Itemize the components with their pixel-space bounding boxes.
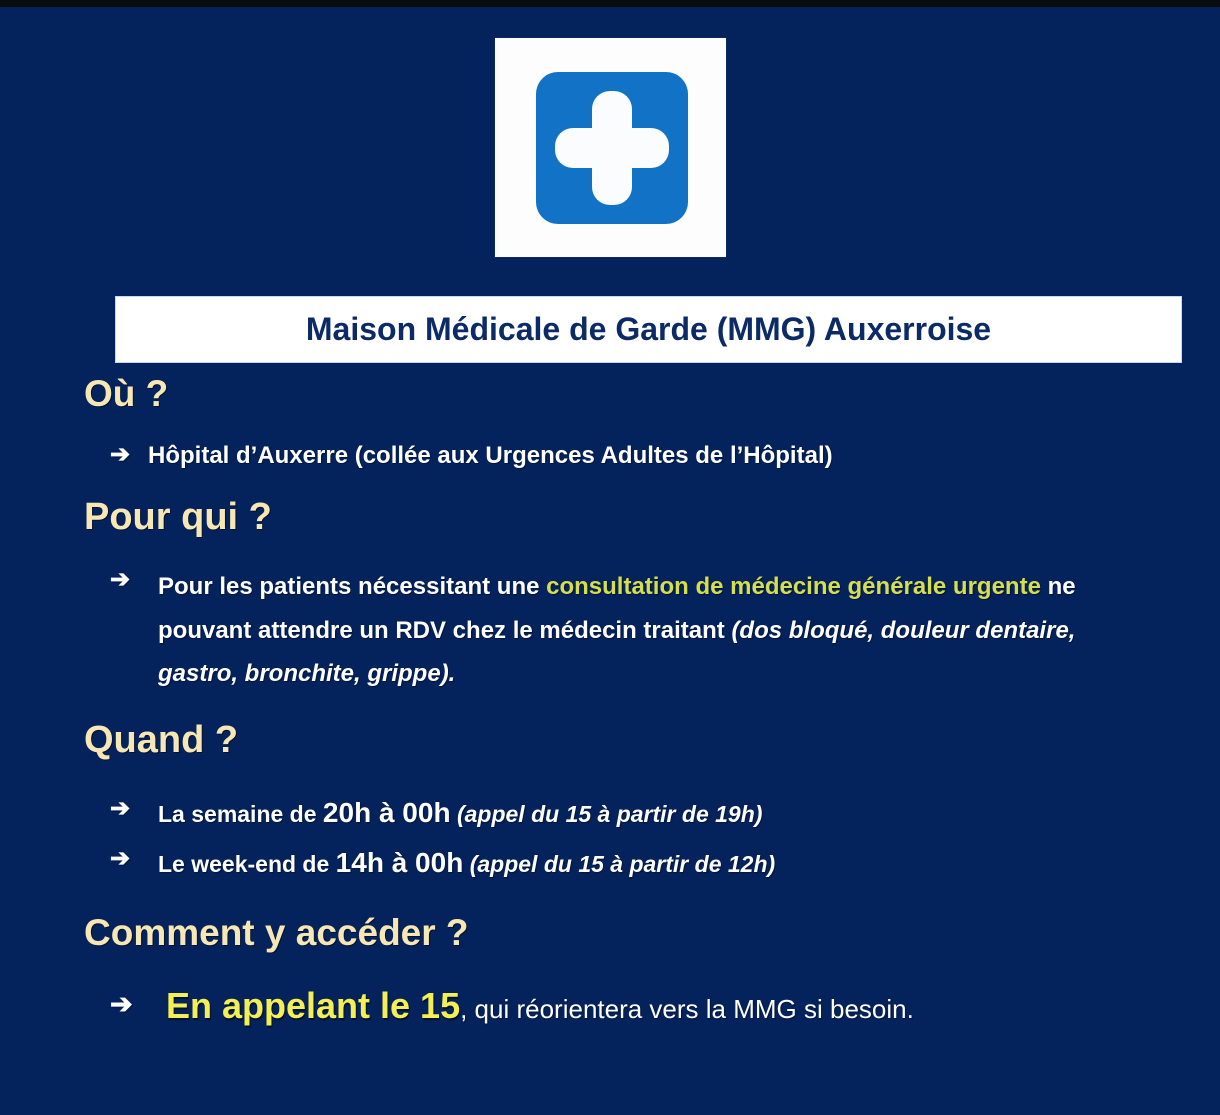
arrow-right-icon: ➔ (110, 793, 130, 824)
medical-cross-icon (536, 72, 688, 224)
schedule-weekday-hours: 20h à 00h (323, 797, 451, 828)
schedule-weekday-note: (appel du 15 à partir de 19h) (457, 801, 762, 827)
list-item: ➔Pour les patients nécessitant une consu… (110, 565, 1158, 696)
list-item: ➔Le week-end de 14h à 00h (appel du 15 à… (110, 844, 1220, 882)
section-heading-comment: Comment y accéder ? (0, 914, 1220, 953)
schedule-weekend-lead: Le week-end de (158, 851, 336, 877)
bullet-highlight-text: consultation de médecine générale urgent… (546, 573, 1041, 600)
bullets-ou: ➔ Hôpital d’Auxerre (collée aux Urgences… (0, 440, 1220, 471)
cross-bar-vertical (592, 91, 632, 205)
schedule-weekday-lead: La semaine de (158, 801, 323, 827)
page-title: Maison Médicale de Garde (MMG) Auxerrois… (306, 311, 991, 348)
list-item: ➔ Hôpital d’Auxerre (collée aux Urgences… (110, 440, 1220, 471)
list-item-label: Hôpital d’Auxerre (collée aux Urgences A… (148, 442, 833, 469)
schedule-weekend-hours: 14h à 00h (336, 847, 464, 878)
section-heading-ou: Où ? (0, 375, 1220, 414)
section-heading-pour-qui: Pour qui ? (0, 498, 1220, 538)
bullets-comment: ➔En appelant le 15, qui réorientera vers… (0, 983, 1220, 1030)
section-pour-qui: Pour qui ? ➔Pour les patients nécessitan… (0, 498, 1220, 696)
poster-content: Où ? ➔ Hôpital d’Auxerre (collée aux Urg… (0, 375, 1220, 1030)
bullet-lead-text: Pour les patients nécessitant une (158, 573, 546, 600)
section-quand: Quand ? ➔La semaine de 20h à 00h (appel … (0, 721, 1220, 881)
emergency-number-callout: En appelant le 15 (166, 985, 460, 1026)
bullets-quand: ➔La semaine de 20h à 00h (appel du 15 à … (0, 794, 1220, 882)
logo-blue-tile (536, 72, 688, 224)
title-banner: Maison Médicale de Garde (MMG) Auxerrois… (115, 296, 1182, 363)
arrow-right-icon: ➔ (110, 987, 133, 1022)
top-edge-strip (0, 0, 1220, 7)
bullets-pour-qui: ➔Pour les patients nécessitant une consu… (0, 565, 1220, 696)
section-comment: Comment y accéder ? ➔En appelant le 15, … (0, 914, 1220, 1030)
arrow-right-icon: ➔ (110, 843, 130, 874)
poster-root: Maison Médicale de Garde (MMG) Auxerrois… (0, 0, 1220, 1115)
section-ou: Où ? ➔ Hôpital d’Auxerre (collée aux Urg… (0, 375, 1220, 471)
emergency-number-note: , qui réorientera vers la MMG si besoin. (460, 994, 914, 1024)
schedule-weekend-note: (appel du 15 à partir de 12h) (470, 851, 775, 877)
list-item: ➔En appelant le 15, qui réorientera vers… (110, 983, 1220, 1030)
list-item: ➔La semaine de 20h à 00h (appel du 15 à … (110, 794, 1220, 832)
logo-card (495, 38, 726, 257)
section-heading-quand: Quand ? (0, 721, 1220, 761)
arrow-right-icon: ➔ (110, 439, 130, 470)
arrow-right-icon: ➔ (110, 564, 130, 595)
